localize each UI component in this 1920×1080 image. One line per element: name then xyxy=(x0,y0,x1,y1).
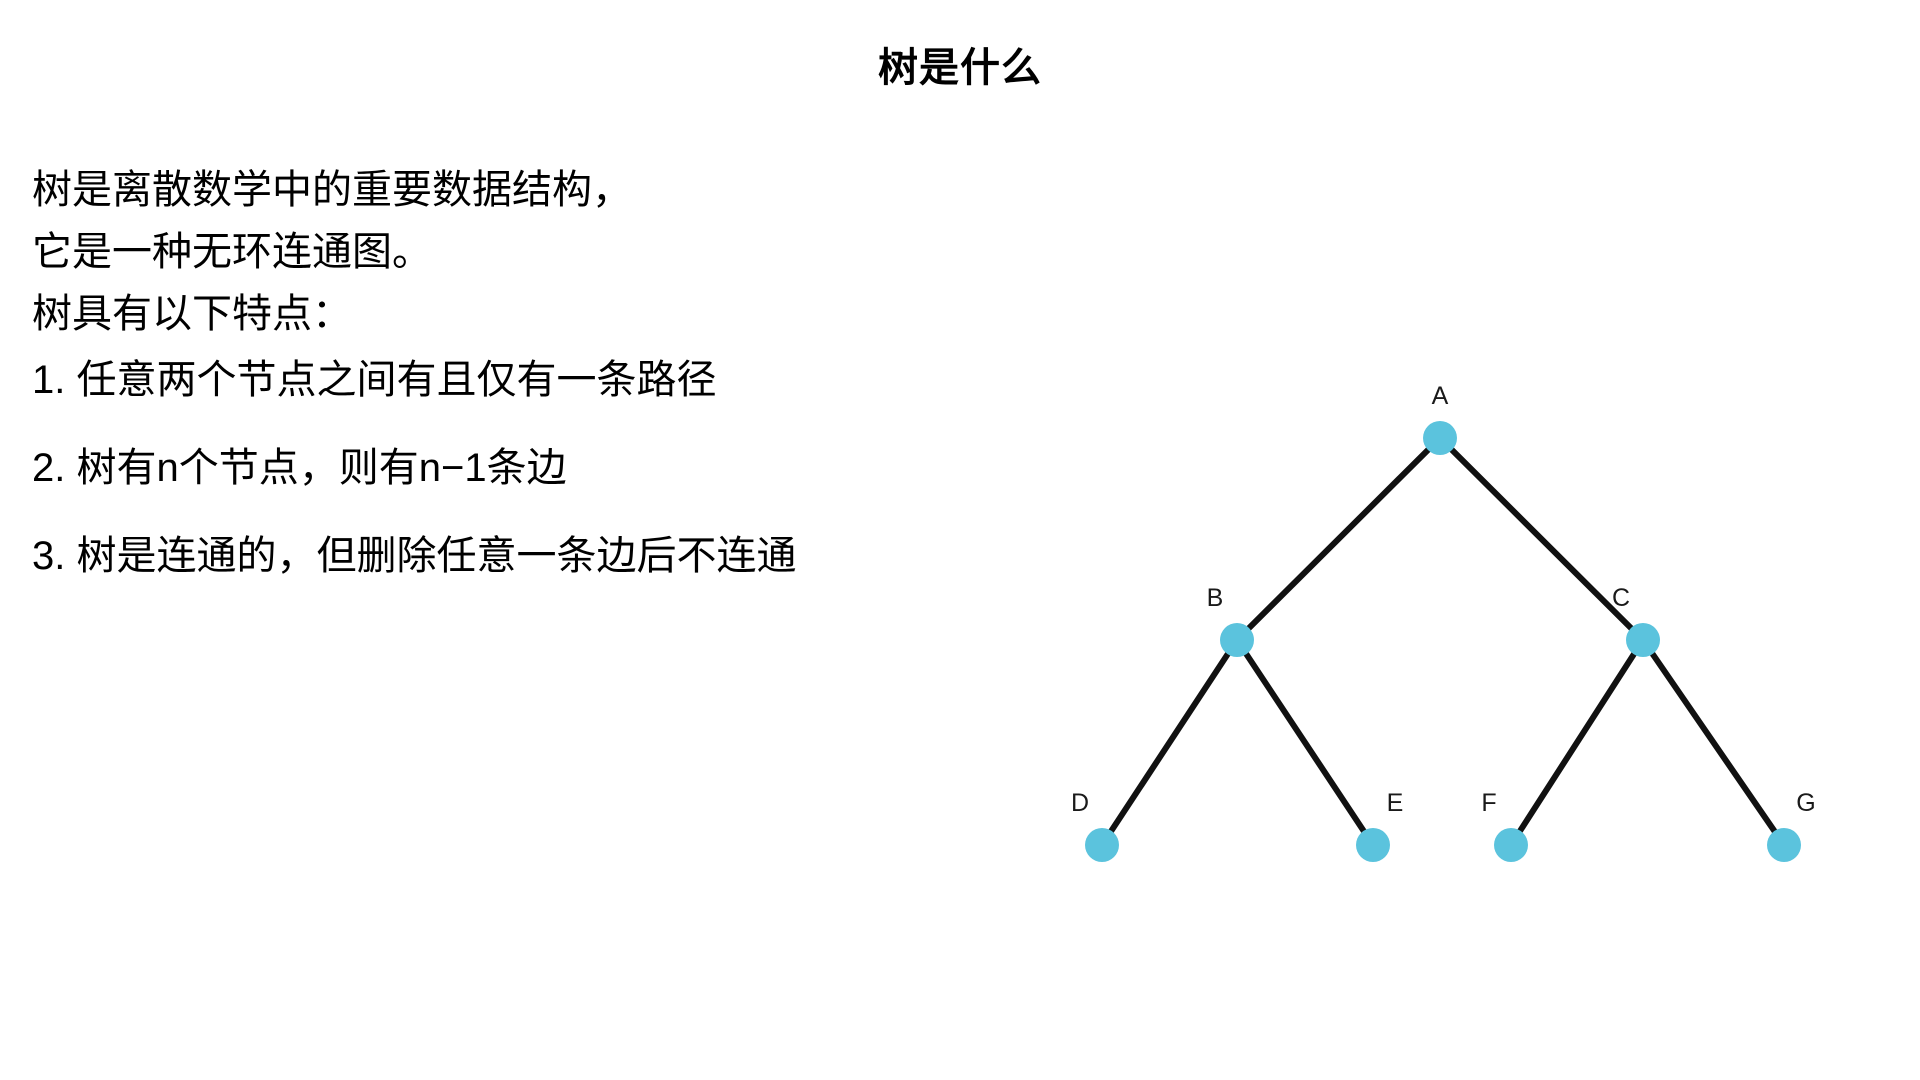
tree-node-label-c: C xyxy=(1612,584,1630,612)
tree-node-b[interactable]: B xyxy=(1207,584,1254,657)
tree-diagram-svg: ABCDEFG xyxy=(1020,360,1880,900)
tree-node-label-f: F xyxy=(1481,789,1496,817)
tree-node-label-b: B xyxy=(1207,584,1224,612)
tree-node-a[interactable]: A xyxy=(1423,382,1457,455)
tree-node-circle-g[interactable] xyxy=(1767,828,1801,862)
tree-node-label-g: G xyxy=(1796,789,1815,817)
tree-edge-c-f xyxy=(1511,640,1643,845)
tree-node-circle-c[interactable] xyxy=(1626,623,1660,657)
paragraph-line: 树是离散数学中的重要数据结构， xyxy=(32,170,1032,210)
tree-node-label-e: E xyxy=(1387,789,1404,817)
tree-edge-c-g xyxy=(1643,640,1784,845)
page-title: 树是什么 xyxy=(0,44,1920,92)
body-text-block: 树是离散数学中的重要数据结构， 它是一种无环连通图。 树具有以下特点： 1. 任… xyxy=(32,170,1032,624)
feature-list: 1. 任意两个节点之间有且仅有一条路径 2. 树有n个节点，则有n−1条边 3.… xyxy=(32,360,1032,576)
paragraph-block: 树是离散数学中的重要数据结构， 它是一种无环连通图。 树具有以下特点： xyxy=(32,170,1032,334)
paragraph-line: 树具有以下特点： xyxy=(32,294,1032,334)
tree-node-circle-a[interactable] xyxy=(1423,421,1457,455)
list-item: 1. 任意两个节点之间有且仅有一条路径 xyxy=(32,360,1032,400)
tree-node-circle-f[interactable] xyxy=(1494,828,1528,862)
tree-diagram: ABCDEFG xyxy=(1020,360,1880,900)
tree-node-label-a: A xyxy=(1432,382,1449,410)
list-item: 3. 树是连通的，但删除任意一条边后不连通 xyxy=(32,536,1032,576)
tree-edge-b-d xyxy=(1102,640,1237,845)
list-item: 2. 树有n个节点，则有n−1条边 xyxy=(32,448,1032,488)
tree-node-circle-e[interactable] xyxy=(1356,828,1390,862)
tree-node-g[interactable]: G xyxy=(1767,789,1816,862)
tree-node-circle-d[interactable] xyxy=(1085,828,1119,862)
tree-edge-b-e xyxy=(1237,640,1373,845)
paragraph-line: 它是一种无环连通图。 xyxy=(32,232,1032,272)
tree-edge-a-b xyxy=(1237,438,1440,640)
tree-node-group: ABCDEFG xyxy=(1071,382,1816,862)
tree-node-label-d: D xyxy=(1071,789,1089,817)
tree-edge-group xyxy=(1102,438,1784,845)
slide-canvas: 树是什么 树是离散数学中的重要数据结构， 它是一种无环连通图。 树具有以下特点：… xyxy=(0,0,1920,1080)
tree-node-circle-b[interactable] xyxy=(1220,623,1254,657)
